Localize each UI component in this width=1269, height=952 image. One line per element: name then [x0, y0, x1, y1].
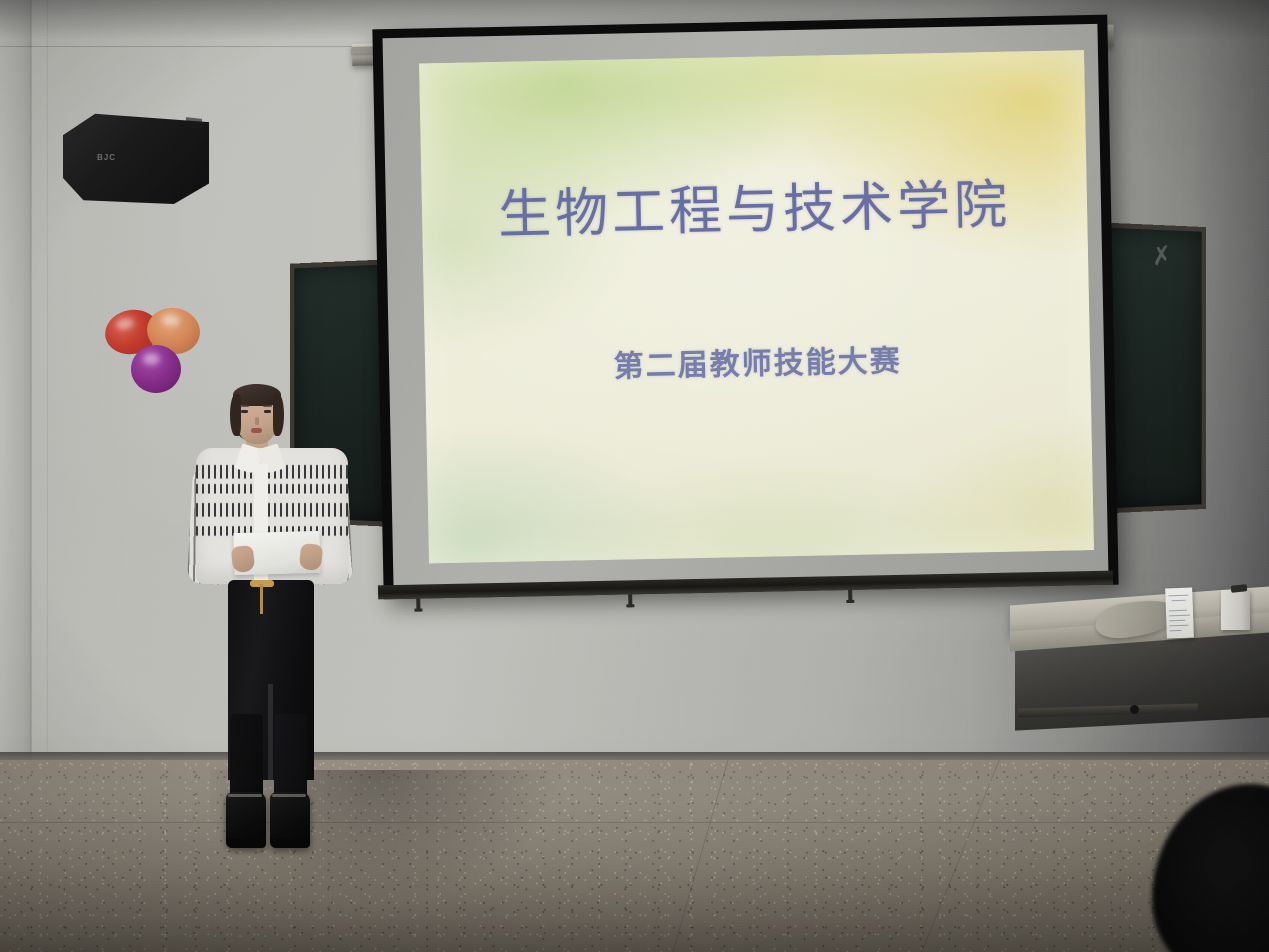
purple-balloon — [131, 345, 181, 393]
hair-right — [273, 394, 284, 436]
slide-title: 生物工程与技术学院 — [422, 178, 1088, 244]
slide-light-glow — [419, 50, 1094, 563]
boot-right — [270, 792, 310, 848]
projector-screen[interactable]: 生物工程与技术学院 第二届教师技能大赛 — [372, 15, 1118, 600]
paper-sign — [1165, 588, 1194, 639]
boot-cuff — [272, 794, 306, 797]
chalk-mark: ✗ — [1150, 241, 1174, 272]
leg-separation — [268, 684, 273, 784]
boot-sole — [226, 839, 266, 848]
speaker-brand-label: BJC — [97, 153, 116, 162]
mouth — [251, 428, 262, 433]
white-box — [1221, 590, 1250, 630]
screen-hook — [848, 590, 852, 603]
wall-seam-left-2 — [47, 0, 49, 760]
eyebrow-right — [263, 405, 272, 407]
wall-column-shading — [0, 0, 32, 760]
leg-right — [274, 714, 307, 804]
hair-left — [230, 394, 241, 436]
boot-cuff — [228, 794, 262, 797]
wall-seam-left — [30, 0, 32, 760]
eyebrow-left — [240, 405, 249, 407]
speaker-bracket — [186, 117, 202, 129]
screen-hook — [628, 594, 632, 607]
zipper — [260, 584, 263, 614]
eye-left — [241, 410, 248, 413]
leg-left — [230, 714, 263, 804]
lecture-hall-photo: ✗ BJC e-Standard 生物工程与技术学院 第二届教师技能大赛 — [0, 0, 1269, 952]
eye-right — [264, 410, 271, 413]
podium-rail-knob — [1130, 705, 1139, 714]
presentation-slide: 生物工程与技术学院 第二届教师技能大赛 — [419, 50, 1094, 563]
boot-sole — [270, 839, 310, 848]
slide-subtitle: 第二届教师技能大赛 — [425, 343, 1090, 386]
boot-left — [226, 792, 266, 848]
screen-surface: 生物工程与技术学院 第二届教师技能大赛 — [383, 24, 1109, 588]
wall-seam-horizontal — [0, 46, 360, 47]
nose — [255, 417, 259, 425]
screen-hook — [416, 599, 420, 612]
presenter — [190, 384, 360, 854]
